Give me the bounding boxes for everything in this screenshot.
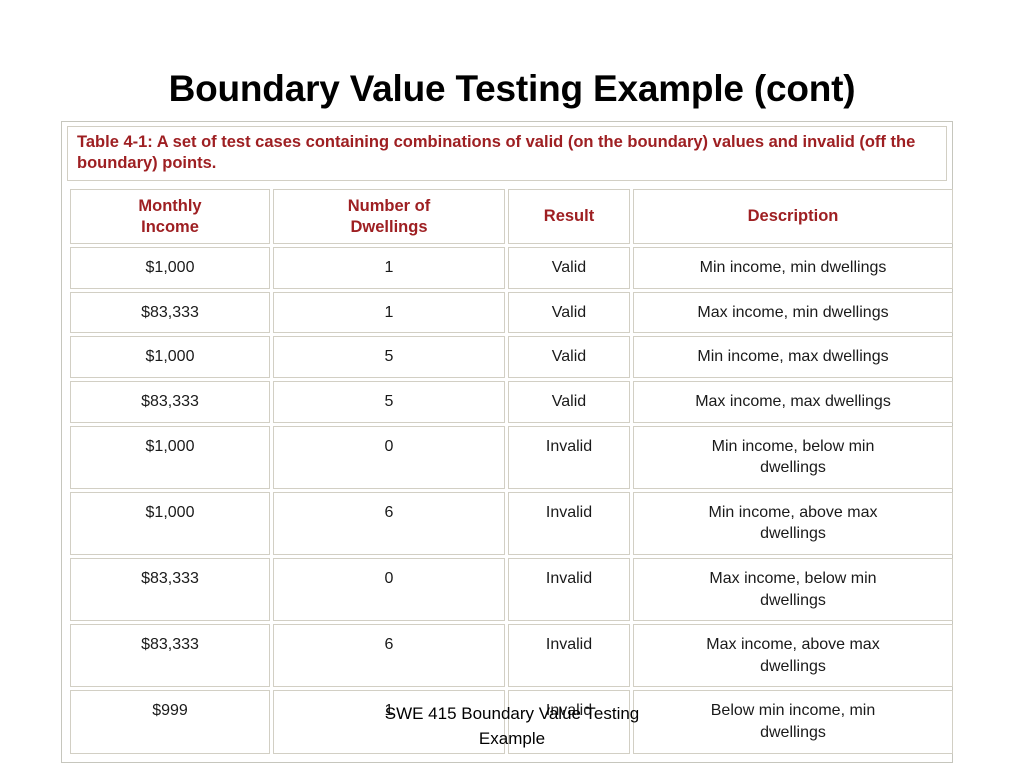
table-header-row: Monthly Income Number of Dwellings Resul… [70,189,953,244]
cell-description-line2: dwellings [634,590,952,612]
column-header-line1: Monthly [71,196,269,217]
footer-line-2: Example [0,727,1024,752]
cell-monthly-income: $1,000 [70,336,270,378]
cell-description-line2: dwellings [634,457,952,479]
cell-description-line2: dwellings [634,523,952,545]
cell-description-line1: Min income, above max [634,502,952,524]
cell-description-line1: Min income, below min [634,436,952,458]
slide-footer: SWE 415 Boundary Value Testing Example [0,702,1024,751]
cell-number-of-dwellings: 0 [273,558,505,621]
table-row: $83,3335ValidMax income, max dwellings [70,381,953,423]
cell-description-line1: Max income, below min [634,568,952,590]
cell-description-line1: Min income, max dwellings [634,346,952,368]
cell-result: Invalid [508,558,630,621]
cell-number-of-dwellings: 1 [273,292,505,334]
cell-monthly-income: $1,000 [70,247,270,289]
cell-result: Valid [508,247,630,289]
cell-number-of-dwellings: 6 [273,624,505,687]
cell-number-of-dwellings: 5 [273,381,505,423]
column-header-line1: Number of [274,196,504,217]
table-caption: Table 4-1: A set of test cases containin… [77,132,938,174]
table-header: Monthly Income Number of Dwellings Resul… [70,189,953,244]
cell-monthly-income: $83,333 [70,558,270,621]
footer-line-1: SWE 415 Boundary Value Testing [0,702,1024,727]
column-header-line1: Description [634,206,952,227]
table-row: $1,0001ValidMin income, min dwellings [70,247,953,289]
column-header-line2: Dwellings [274,217,504,238]
cell-description: Min income, above maxdwellings [633,492,953,555]
cell-monthly-income: $1,000 [70,426,270,489]
cell-description: Max income, max dwellings [633,381,953,423]
cell-description: Min income, min dwellings [633,247,953,289]
page-title: Boundary Value Testing Example (cont) [0,68,1024,111]
cell-result: Valid [508,336,630,378]
table-frame: Table 4-1: A set of test cases containin… [61,121,953,763]
column-header-line2: Income [71,217,269,238]
column-header-monthly-income: Monthly Income [70,189,270,244]
cell-result: Invalid [508,426,630,489]
table-row: $1,0006InvalidMin income, above maxdwell… [70,492,953,555]
cell-description-line1: Max income, min dwellings [634,302,952,324]
cell-number-of-dwellings: 1 [273,247,505,289]
cell-description: Max income, above maxdwellings [633,624,953,687]
cell-description-line2: dwellings [634,656,952,678]
column-header-description: Description [633,189,953,244]
test-cases-table: Monthly Income Number of Dwellings Resul… [67,186,956,756]
cell-description: Max income, min dwellings [633,292,953,334]
table-row: $1,0000InvalidMin income, below mindwell… [70,426,953,489]
table-row: $83,3330InvalidMax income, below mindwel… [70,558,953,621]
table-row: $83,3331ValidMax income, min dwellings [70,292,953,334]
cell-description: Min income, below mindwellings [633,426,953,489]
column-header-line1: Result [509,206,629,227]
column-header-result: Result [508,189,630,244]
slide: Boundary Value Testing Example (cont) Ta… [0,0,1024,768]
cell-result: Valid [508,381,630,423]
cell-monthly-income: $83,333 [70,381,270,423]
cell-monthly-income: $83,333 [70,292,270,334]
cell-result: Invalid [508,624,630,687]
column-header-number-of-dwellings: Number of Dwellings [273,189,505,244]
cell-number-of-dwellings: 0 [273,426,505,489]
cell-description-line1: Min income, min dwellings [634,257,952,279]
cell-description: Max income, below mindwellings [633,558,953,621]
cell-number-of-dwellings: 6 [273,492,505,555]
cell-description: Min income, max dwellings [633,336,953,378]
table-caption-cell: Table 4-1: A set of test cases containin… [67,126,947,181]
cell-monthly-income: $1,000 [70,492,270,555]
cell-result: Invalid [508,492,630,555]
cell-monthly-income: $83,333 [70,624,270,687]
cell-description-line1: Max income, above max [634,634,952,656]
cell-number-of-dwellings: 5 [273,336,505,378]
cell-result: Valid [508,292,630,334]
cell-description-line1: Max income, max dwellings [634,391,952,413]
table-row: $83,3336InvalidMax income, above maxdwel… [70,624,953,687]
table-body: $1,0001ValidMin income, min dwellings$83… [70,247,953,753]
table-row: $1,0005ValidMin income, max dwellings [70,336,953,378]
